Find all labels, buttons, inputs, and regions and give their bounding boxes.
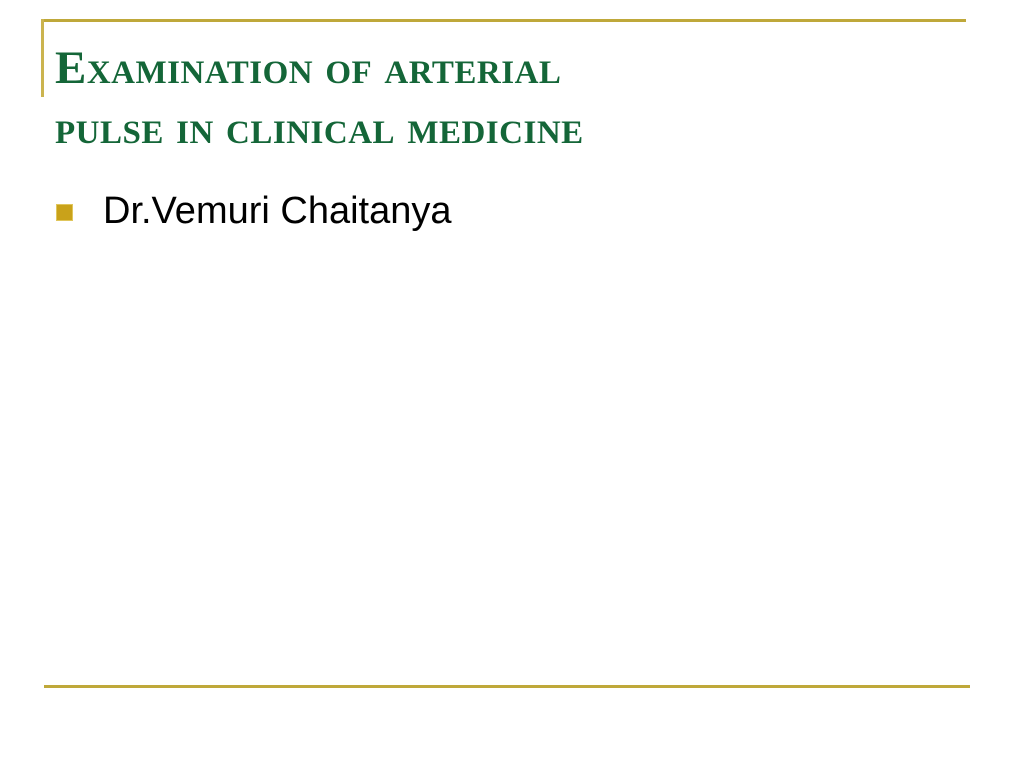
top-gold-rule	[41, 19, 966, 22]
slide-title-line-2: pulse in clinical medicine	[55, 98, 955, 158]
list-item: Dr.Vemuri Chaitanya	[57, 186, 957, 236]
slide-title-line-1: Examination of arterial	[55, 38, 955, 98]
slide-body: Dr.Vemuri Chaitanya	[57, 186, 957, 236]
slide-title: Examination of arterial pulse in clinica…	[55, 38, 955, 158]
presentation-slide: Examination of arterial pulse in clinica…	[0, 0, 1024, 768]
left-gold-rule	[41, 19, 44, 97]
square-bullet-icon	[57, 205, 72, 220]
list-item-label: Dr.Vemuri Chaitanya	[103, 186, 452, 236]
bottom-gold-rule	[44, 685, 970, 688]
